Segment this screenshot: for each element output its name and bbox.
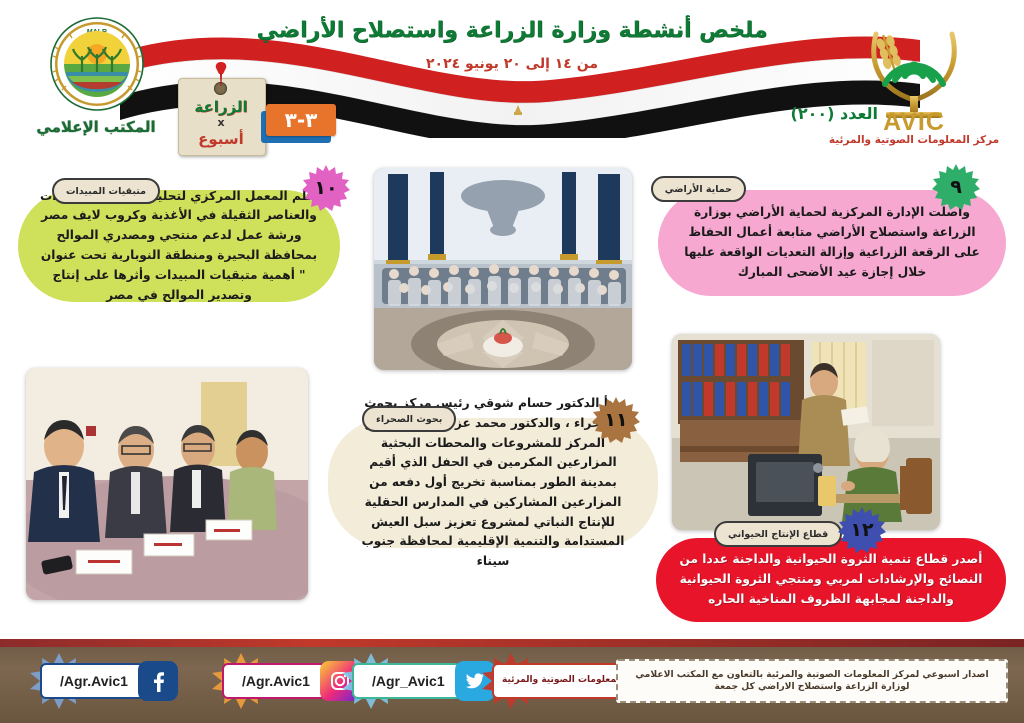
tag-line-3: أسبوع xyxy=(178,130,264,148)
card-12-tag: قطاع الإنتاج الحيواني xyxy=(714,521,842,547)
card-10-body: نظم المعمل المركزي لتحليل متبقيات المبيد… xyxy=(40,187,318,306)
card-9-tag: حماية الأراضي xyxy=(651,176,746,202)
page-title: ملخص أنشطة وزارة الزراعة واستصلاح الأراض… xyxy=(0,18,1024,43)
page-badge-label: ٣-٣ xyxy=(266,104,336,136)
page-number-badge: ٣-٣ xyxy=(266,104,336,140)
card-10-number: ١٠ xyxy=(314,177,337,199)
avic-logo-caption: مركز المعلومات الصوتية والمرئية xyxy=(806,134,1022,146)
meeting-photo xyxy=(26,368,308,600)
card-12: أصدر قطاع تنمية الثروة الحيوانية والداجن… xyxy=(656,538,1006,622)
office-photo xyxy=(672,334,940,530)
social-link-facebook[interactable]: /Agr.Avic1 xyxy=(40,661,178,701)
malr-logo-caption: المكتب الإعلامي xyxy=(26,118,166,136)
tag-line-1: الزراعة xyxy=(178,98,264,116)
group-photo-illustration xyxy=(374,168,632,370)
card-10-tag: متبقيات المبيدات xyxy=(52,178,160,204)
card-12-number: ١٢ xyxy=(850,519,873,541)
card-9-number: ٩ xyxy=(950,176,962,198)
card-10: نظم المعمل المركزي لتحليل متبقيات المبيد… xyxy=(18,190,340,302)
facebook-icon xyxy=(138,661,178,701)
date-range: من ١٤ إلى ٢٠ يونيو ٢٠٢٤ xyxy=(0,56,1024,72)
footer-accent-strip xyxy=(0,639,1024,647)
footer-note-text: اصدار اسبوعي لمركز المعلومات الصوتية وال… xyxy=(626,669,998,693)
card-11-tag: بحوث الصحراء xyxy=(362,406,456,432)
issue-number: العدد (٢٠٠) xyxy=(791,104,878,123)
group-photo xyxy=(374,168,632,370)
twitter-handle: /Agr_Avic1 xyxy=(352,663,461,699)
meeting-photo-illustration xyxy=(26,368,308,600)
office-photo-illustration xyxy=(672,334,940,530)
tag-line-2: x xyxy=(178,116,264,129)
card-10-number-badge: ١٠ xyxy=(302,164,350,212)
card-12-body: أصدر قطاع تنمية الثروة الحيوانية والداجن… xyxy=(678,550,984,609)
card-11-number-badge: ١١ xyxy=(592,396,640,444)
header: MALR المكتب الإعلامي xyxy=(0,0,1024,160)
card-11-number: ١١ xyxy=(604,409,627,431)
agriculture-week-tag: الزراعة x أسبوع xyxy=(178,62,264,154)
social-link-twitter[interactable]: /Agr_Avic1 xyxy=(352,661,495,701)
card-9-body: واصلت الإدارة المركزية لحماية الأراضي بو… xyxy=(680,203,984,282)
card-9-number-badge: ٩ xyxy=(932,163,980,211)
card-12-number-badge: ١٢ xyxy=(838,506,886,554)
footer-note: اصدار اسبوعي لمركز المعلومات الصوتية وال… xyxy=(616,659,1008,703)
pushpin-icon xyxy=(208,60,234,90)
newsletter-page: MALR المكتب الإعلامي xyxy=(0,0,1024,723)
footer: /Agr.Avic1 /Agr.Avic1 /Agr_Avic1 xyxy=(0,639,1024,723)
instagram-handle: /Agr.Avic1 xyxy=(222,663,326,699)
facebook-handle: /Agr.Avic1 xyxy=(40,663,144,699)
